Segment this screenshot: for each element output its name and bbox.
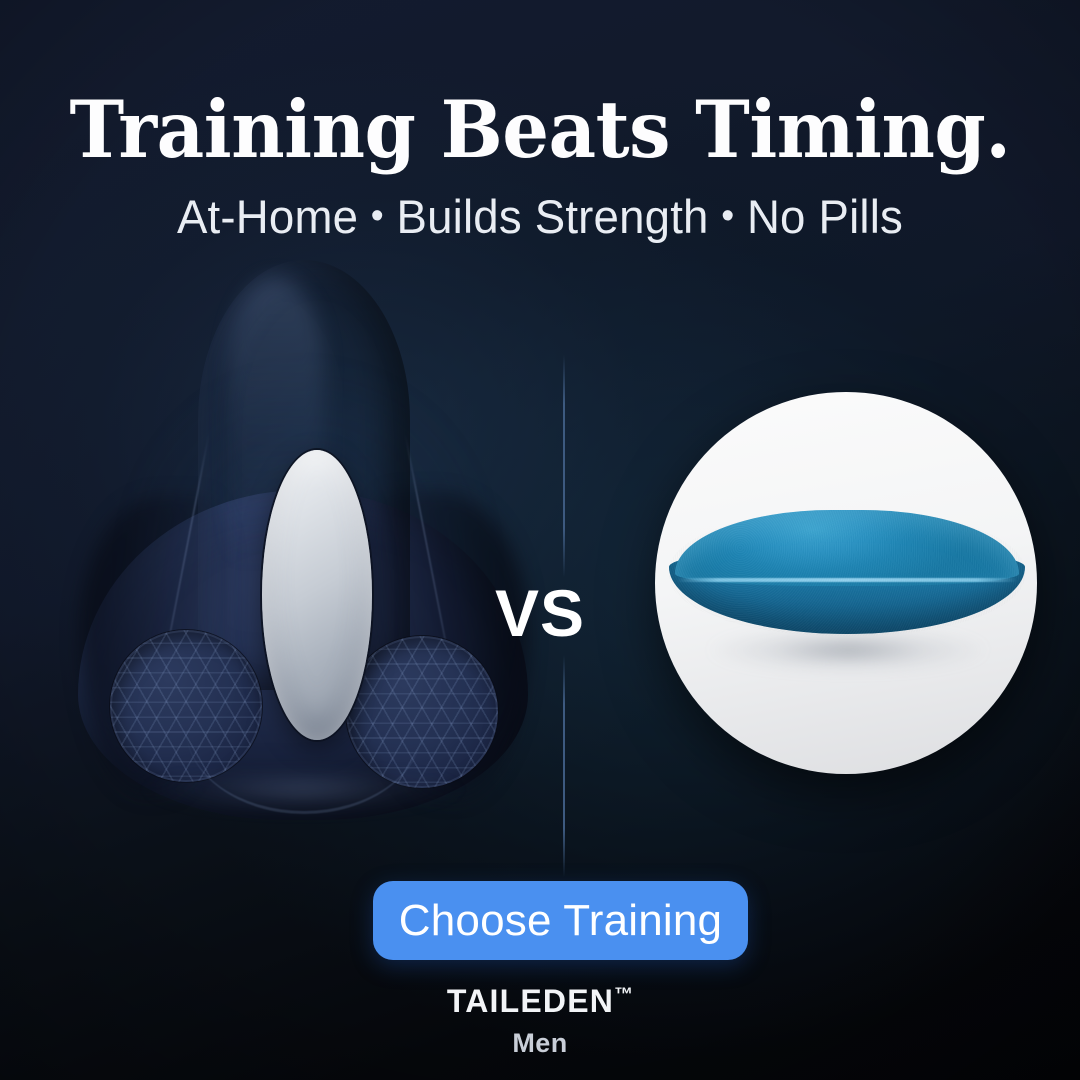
comparison-stage: VS xyxy=(0,250,1080,870)
brand-footer: TAILEDEN™ Men xyxy=(0,985,1080,1057)
brand-name: TAILEDEN™ xyxy=(0,985,1080,1017)
subheadline-item-1: At-Home xyxy=(177,190,358,243)
device-base-highlight xyxy=(138,772,468,816)
device-body xyxy=(78,260,528,820)
brand-name-text: TAILEDEN xyxy=(447,983,614,1019)
subheadline-item-3: No Pills xyxy=(747,190,903,243)
pill-dome xyxy=(675,510,1019,586)
bullet-separator-icon: • xyxy=(709,195,747,237)
training-device-image xyxy=(78,260,528,840)
divider-line-top xyxy=(563,355,565,577)
blue-pill-photo xyxy=(655,392,1037,774)
divider-line-bottom xyxy=(563,655,565,877)
bullet-separator-icon: • xyxy=(358,195,396,237)
subheadline-item-2: Builds Strength xyxy=(397,190,709,243)
header: Training Beats Timing. At-Home•Builds St… xyxy=(0,0,1080,240)
pill-equator-seam xyxy=(677,578,1017,582)
subheadline: At-Home•Builds Strength•No Pills xyxy=(16,193,1064,240)
choose-training-button[interactable]: Choose Training xyxy=(373,881,748,960)
page-title: Training Beats Timing. xyxy=(38,90,1042,169)
advertisement-canvas: Training Beats Timing. At-Home•Builds St… xyxy=(0,0,1080,1080)
brand-subline: Men xyxy=(0,1030,1080,1057)
cta-button-label: Choose Training xyxy=(399,899,722,943)
pill-tablet xyxy=(669,510,1025,636)
trademark-icon: ™ xyxy=(614,984,633,1005)
